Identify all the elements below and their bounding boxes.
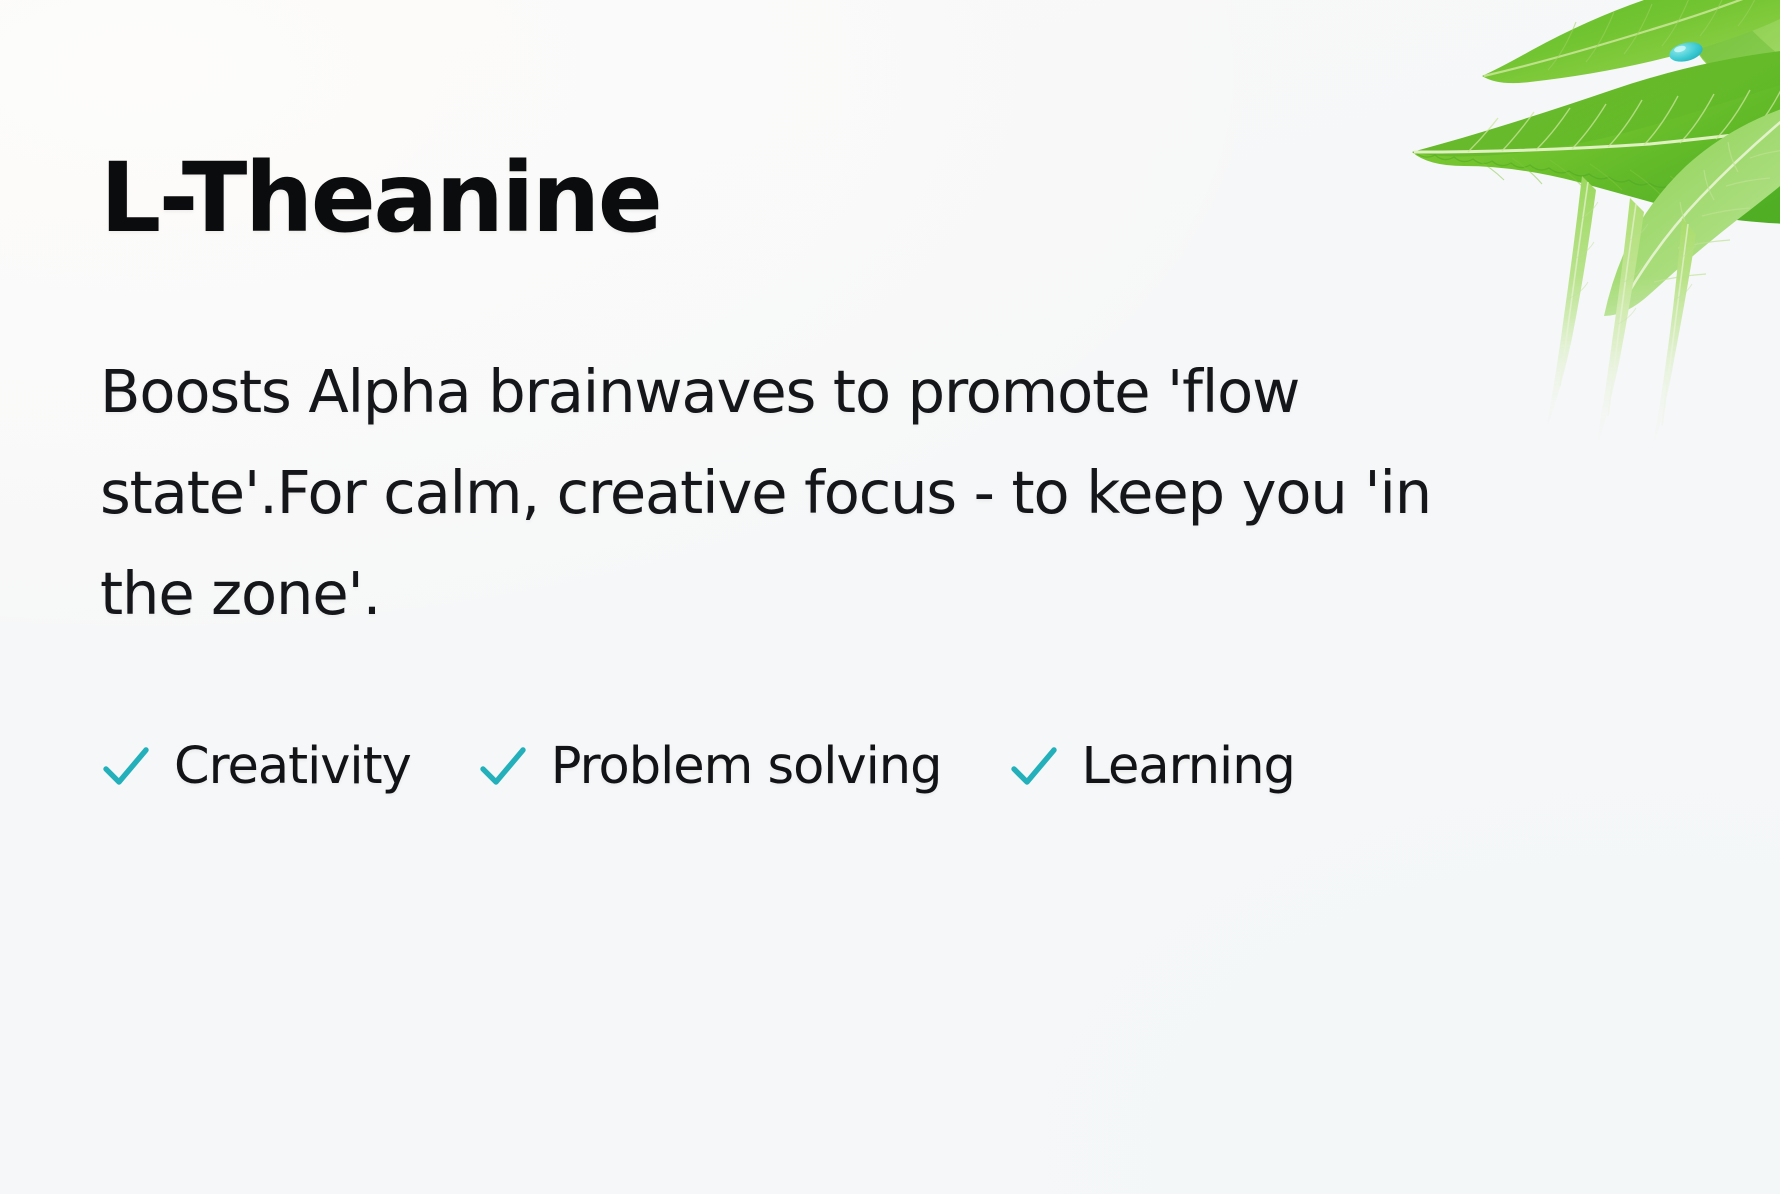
benefit-item-creativity: Creativity	[100, 737, 411, 796]
page-title: L-Theanine	[100, 150, 1500, 246]
benefit-item-problem-solving: Problem solving	[477, 737, 942, 796]
card-content: L-Theanine Boosts Alpha brainwaves to pr…	[100, 150, 1500, 796]
check-icon	[100, 740, 152, 792]
benefit-label: Learning	[1082, 737, 1295, 796]
benefit-label: Creativity	[174, 737, 411, 796]
check-icon	[477, 740, 529, 792]
ingredient-card: L-Theanine Boosts Alpha brainwaves to pr…	[0, 0, 1780, 1194]
check-icon	[1008, 740, 1060, 792]
benefit-item-learning: Learning	[1008, 737, 1295, 796]
benefit-list: Creativity Problem solving Learning	[100, 645, 1500, 796]
ingredient-description: Boosts Alpha brainwaves to promote 'flow…	[100, 246, 1445, 645]
benefit-label: Problem solving	[551, 737, 942, 796]
